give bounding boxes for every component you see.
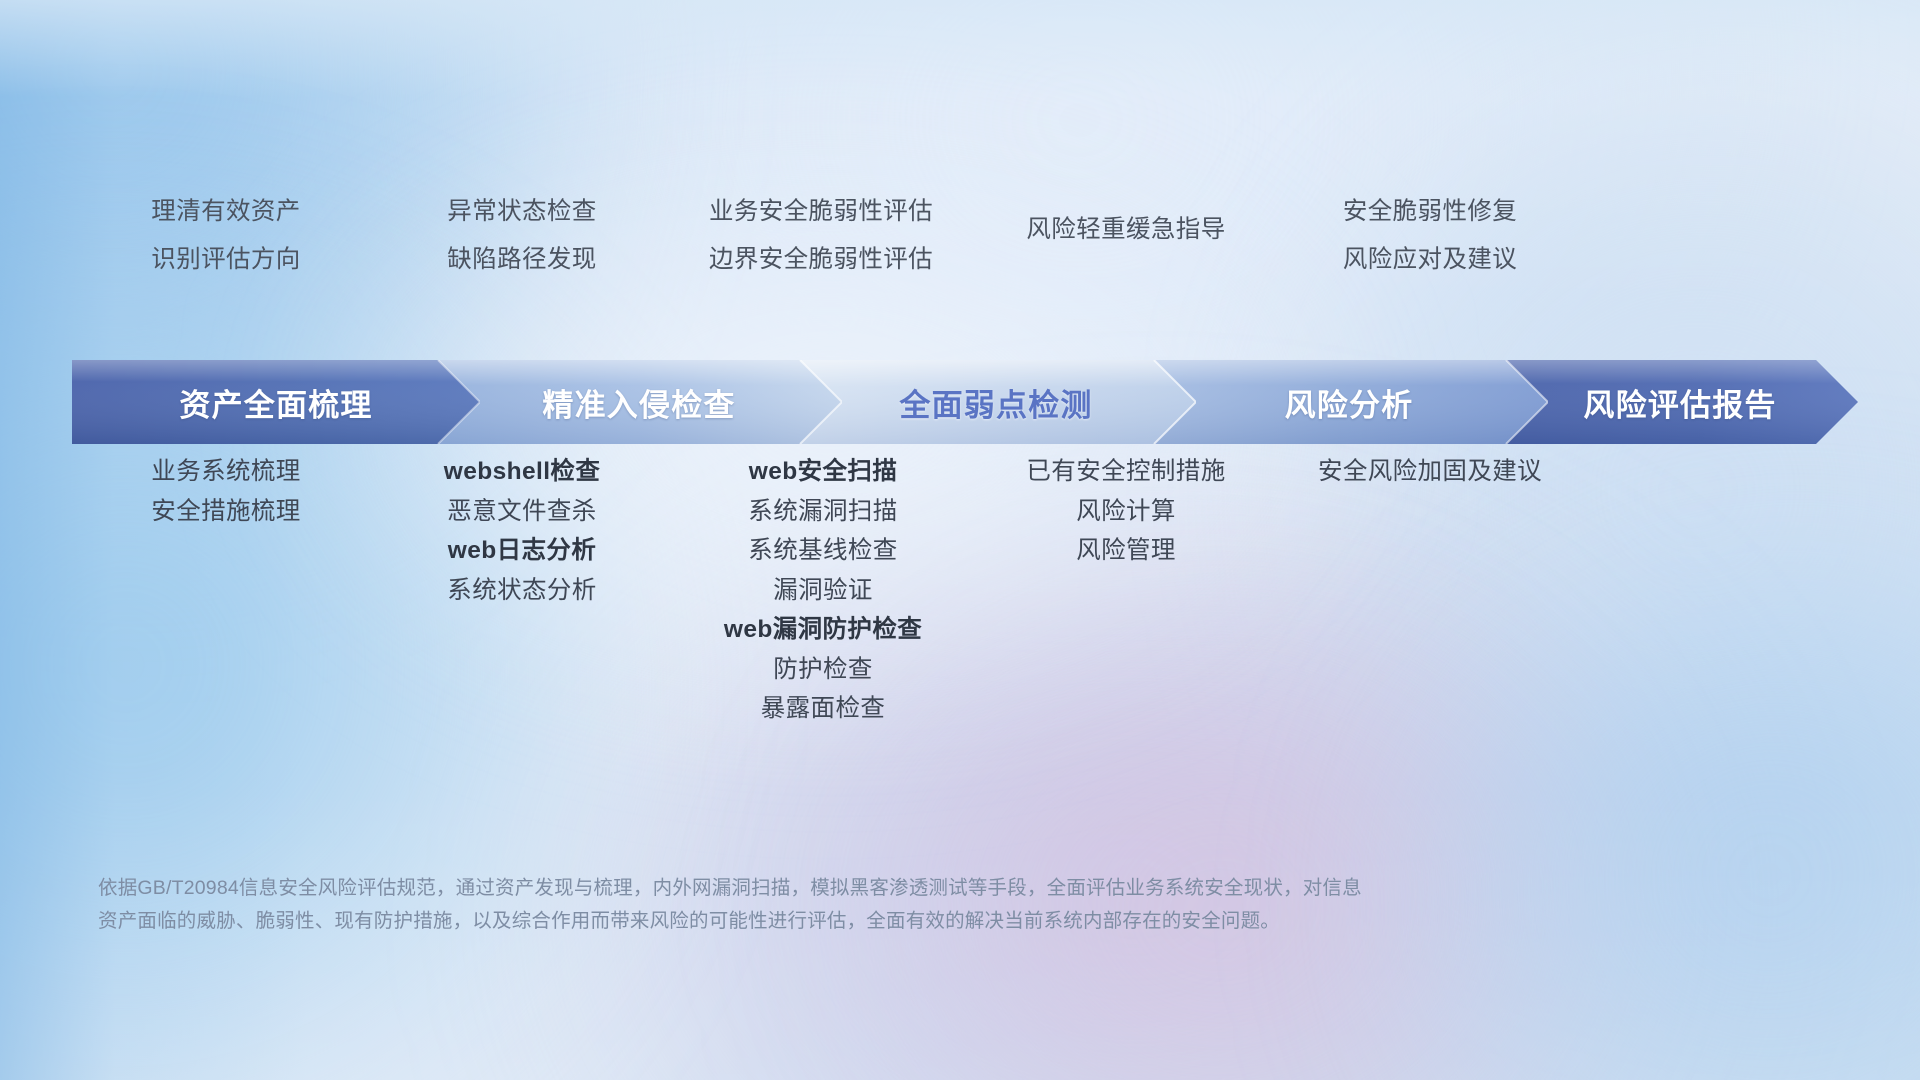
chevron-stage-3[interactable]: 全面弱点检测 xyxy=(796,360,1196,444)
bottom-caption-item: web日志分析 xyxy=(448,531,596,571)
bottom-caption-row: 业务系统梳理 安全措施梳理 webshell检查 恶意文件查杀 web日志分析 … xyxy=(72,452,1858,729)
footer-description: 依据GB/T20984信息安全风险评估规范，通过资产发现与梳理，内外网漏洞扫描，… xyxy=(98,872,1658,938)
top-captions-stage-5: 安全脆弱性修复 风险应对及建议 xyxy=(1280,188,1580,284)
chevron-label-2: 精准入侵检查 xyxy=(542,380,735,425)
bottom-caption-item: 已有安全控制措施 xyxy=(1026,452,1225,492)
top-caption-item: 风险轻重缓急指导 xyxy=(1026,206,1225,254)
bottom-captions-stage-2: webshell检查 恶意文件查杀 web日志分析 系统状态分析 xyxy=(376,452,668,610)
bottom-caption-item: 风险计算 xyxy=(1076,492,1176,532)
chevron-label-4: 风险分析 xyxy=(1285,380,1414,425)
top-captions-stage-2: 异常状态检查 缺陷路径发现 xyxy=(376,188,668,284)
bottom-caption-item: 安全措施梳理 xyxy=(151,492,300,532)
bottom-caption-item: webshell检查 xyxy=(444,452,600,492)
bottom-caption-item: 暴露面检查 xyxy=(761,689,886,729)
top-caption-item: 边界安全脆弱性评估 xyxy=(709,236,933,284)
bottom-caption-item: 系统状态分析 xyxy=(447,571,596,611)
bottom-captions-stage-5: 安全风险加固及建议 xyxy=(1280,452,1580,492)
top-caption-item: 异常状态检查 xyxy=(447,188,596,236)
top-caption-item: 理清有效资产 xyxy=(151,188,300,236)
footer-line-2: 资产面临的威胁、脆弱性、现有防护措施，以及综合作用而带来风险的可能性进行评估，全… xyxy=(98,905,1658,938)
top-caption-item: 业务安全脆弱性评估 xyxy=(709,188,933,236)
top-caption-item: 识别评估方向 xyxy=(151,236,300,284)
footer-line-1: 依据GB/T20984信息安全风险评估规范，通过资产发现与梳理，内外网漏洞扫描，… xyxy=(98,872,1658,905)
top-caption-item: 风险应对及建议 xyxy=(1343,236,1517,284)
chevron-label-3: 全面弱点检测 xyxy=(899,380,1092,425)
bottom-caption-item: 漏洞验证 xyxy=(773,571,873,611)
chevron-stage-2[interactable]: 精准入侵检查 xyxy=(436,360,842,444)
slide-content: 理清有效资产 识别评估方向 异常状态检查 缺陷路径发现 业务安全脆弱性评估 边界… xyxy=(0,0,1920,1080)
top-caption-item: 缺陷路径发现 xyxy=(447,236,596,284)
bottom-caption-item: web漏洞防护检查 xyxy=(724,610,922,650)
chevron-label-5: 风险评估报告 xyxy=(1583,380,1776,425)
bottom-captions-stage-3: web安全扫描 系统漏洞扫描 系统基线检查 漏洞验证 web漏洞防护检查 防护检… xyxy=(672,452,974,729)
top-captions-stage-4: 风险轻重缓急指导 xyxy=(978,206,1274,284)
bottom-caption-item: 安全风险加固及建议 xyxy=(1318,452,1542,492)
top-caption-row: 理清有效资产 识别评估方向 异常状态检查 缺陷路径发现 业务安全脆弱性评估 边界… xyxy=(72,188,1848,284)
bottom-caption-item: 恶意文件查杀 xyxy=(447,492,596,532)
bottom-caption-item: 业务系统梳理 xyxy=(151,452,300,492)
bottom-caption-item: 系统基线检查 xyxy=(748,531,897,571)
top-captions-stage-1: 理清有效资产 识别评估方向 xyxy=(76,188,376,284)
bottom-caption-item: 风险管理 xyxy=(1076,531,1176,571)
bottom-caption-item: 系统漏洞扫描 xyxy=(748,492,897,532)
bottom-captions-stage-1: 业务系统梳理 安全措施梳理 xyxy=(76,452,376,531)
slide-canvas: 理清有效资产 识别评估方向 异常状态检查 缺陷路径发现 业务安全脆弱性评估 边界… xyxy=(0,0,1920,1080)
chevron-stage-5[interactable]: 风险评估报告 xyxy=(1502,360,1858,444)
chevron-label-1: 资产全面梳理 xyxy=(179,380,372,425)
bottom-caption-item: web安全扫描 xyxy=(749,452,897,492)
bottom-captions-stage-4: 已有安全控制措施 风险计算 风险管理 xyxy=(978,452,1274,571)
process-chevron-band: 风险评估报告 xyxy=(72,360,1858,444)
chevron-stage-4[interactable]: 风险分析 xyxy=(1150,360,1548,444)
top-caption-item: 安全脆弱性修复 xyxy=(1343,188,1517,236)
chevron-stage-1[interactable]: 资产全面梳理 xyxy=(72,360,480,444)
top-captions-stage-3: 业务安全脆弱性评估 边界安全脆弱性评估 xyxy=(670,188,972,284)
bottom-caption-item: 防护检查 xyxy=(773,650,873,690)
